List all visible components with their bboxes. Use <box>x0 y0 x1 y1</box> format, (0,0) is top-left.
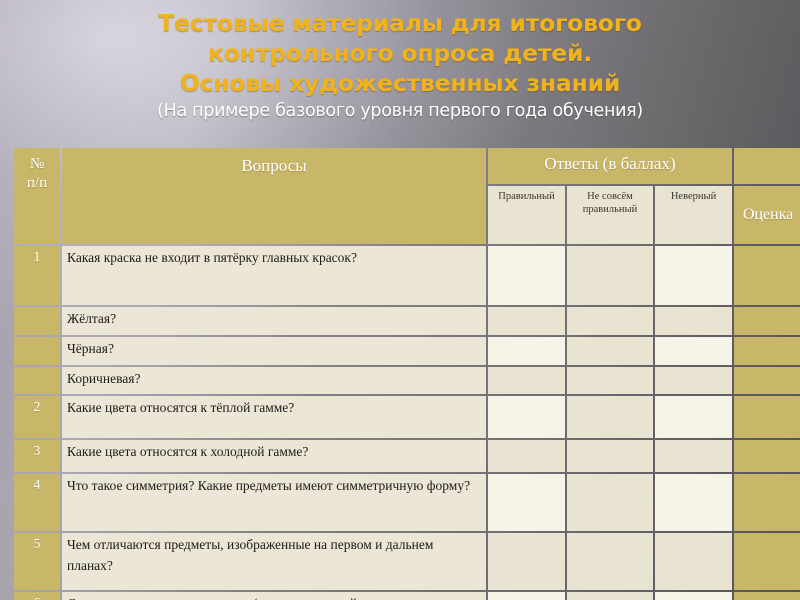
answer-correct-cell[interactable] <box>488 533 565 590</box>
table-row[interactable]: Коричневая? <box>14 367 800 394</box>
answer-incorrect-cell[interactable] <box>655 396 732 438</box>
row-question-cell: Какая краска не входит в пятёрку главных… <box>62 246 486 305</box>
row-number-cell: 4 <box>14 474 60 531</box>
answer-correct-cell[interactable] <box>488 396 565 438</box>
table-row[interactable]: 2Какие цвета относятся к тёплой гамме? <box>14 396 800 438</box>
answer-partly-correct-cell[interactable] <box>567 440 653 472</box>
quiz-table: № п/п Вопросы Ответы (в баллах) Правильн… <box>12 146 800 600</box>
header-subcol-correct: Правильный <box>488 186 565 244</box>
quiz-table-wrapper: № п/п Вопросы Ответы (в баллах) Правильн… <box>12 146 790 600</box>
answer-incorrect-cell[interactable] <box>655 592 732 600</box>
answer-partly-correct-cell[interactable] <box>567 307 653 335</box>
answer-partly-correct-cell[interactable] <box>567 246 653 305</box>
answer-correct-cell[interactable] <box>488 474 565 531</box>
header-questions-col: Вопросы <box>62 148 486 244</box>
answer-partly-correct-cell[interactable] <box>567 533 653 590</box>
row-number-cell: 5 <box>14 533 60 590</box>
row-question-cell: Чёрная? <box>62 337 486 365</box>
header-row-top: № п/п Вопросы Ответы (в баллах) <box>14 148 800 184</box>
score-cell[interactable] <box>734 307 800 335</box>
row-question-cell: Какие цвета относятся к холодной гамме? <box>62 440 486 472</box>
answer-correct-cell[interactable] <box>488 246 565 305</box>
row-number-cell: 3 <box>14 440 60 472</box>
header-number-line2: п/п <box>14 174 60 193</box>
row-question-cell: Чем отличаются предметы, изображенные на… <box>62 533 486 590</box>
answer-correct-cell[interactable] <box>488 367 565 394</box>
title-line-3: Основы художественных знаний <box>0 68 800 98</box>
row-question-cell: Жёлтая? <box>62 307 486 335</box>
header-number-col: № п/п <box>14 148 60 244</box>
answer-incorrect-cell[interactable] <box>655 246 732 305</box>
score-cell[interactable] <box>734 592 800 600</box>
answer-partly-correct-cell[interactable] <box>567 396 653 438</box>
header-subcol-partly-correct: Не совсём правильный <box>567 186 653 244</box>
answer-partly-correct-cell[interactable] <box>567 474 653 531</box>
score-cell[interactable] <box>734 396 800 438</box>
answer-partly-correct-cell[interactable] <box>567 592 653 600</box>
row-question-cell: Что такое симметрия? Какие предметы имею… <box>62 474 486 531</box>
score-cell[interactable] <box>734 474 800 531</box>
table-row[interactable]: 5Чем отличаются предметы, изображенные н… <box>14 533 800 590</box>
table-row[interactable]: 3Какие цвета относятся к холодной гамме? <box>14 440 800 472</box>
table-head: № п/п Вопросы Ответы (в баллах) Правильн… <box>14 148 800 244</box>
header-number-line1: № <box>14 155 60 174</box>
answer-incorrect-cell[interactable] <box>655 337 732 365</box>
answer-incorrect-cell[interactable] <box>655 440 732 472</box>
answer-incorrect-cell[interactable] <box>655 533 732 590</box>
slide-canvas: Тестовые материалы для итогового контрол… <box>0 0 800 600</box>
score-cell[interactable] <box>734 246 800 305</box>
answer-correct-cell[interactable] <box>488 337 565 365</box>
table-row[interactable]: 1Какая краска не входит в пятёрку главны… <box>14 246 800 305</box>
score-cell[interactable] <box>734 367 800 394</box>
row-number-cell: 6 <box>14 592 60 600</box>
row-number-cell <box>14 367 60 394</box>
answer-partly-correct-cell[interactable] <box>567 337 653 365</box>
answer-partly-correct-cell[interactable] <box>567 367 653 394</box>
table-row[interactable]: 4Что такое симметрия? Какие предметы име… <box>14 474 800 531</box>
row-question-cell: Какие цвета относятся к тёплой гамме? <box>62 396 486 438</box>
row-number-cell: 2 <box>14 396 60 438</box>
title-line-2: контрольного опроса детей. <box>0 38 800 68</box>
row-question-cell: Коричневая? <box>62 367 486 394</box>
score-cell[interactable] <box>734 440 800 472</box>
table-row[interactable]: Жёлтая? <box>14 307 800 335</box>
score-cell[interactable] <box>734 337 800 365</box>
answer-correct-cell[interactable] <box>488 592 565 600</box>
header-answers-group: Ответы (в баллах) <box>488 148 732 184</box>
title-block: Тестовые материалы для итогового контрол… <box>0 8 800 124</box>
answer-correct-cell[interactable] <box>488 307 565 335</box>
row-number-cell <box>14 337 60 365</box>
answer-incorrect-cell[interactable] <box>655 307 732 335</box>
header-score-col: Оценка <box>734 186 800 244</box>
row-number-cell <box>14 307 60 335</box>
answer-correct-cell[interactable] <box>488 440 565 472</box>
answer-incorrect-cell[interactable] <box>655 367 732 394</box>
table-body: 1Какая краска не входит в пятёрку главны… <box>14 246 800 600</box>
subtitle-line: (На примере базового уровня первого года… <box>0 98 800 124</box>
title-line-1: Тестовые материалы для итогового <box>0 8 800 38</box>
row-number-cell: 1 <box>14 246 60 305</box>
answer-incorrect-cell[interactable] <box>655 474 732 531</box>
header-subcol-incorrect: Неверный <box>655 186 732 244</box>
row-question-cell: С чего лучше начинать рисунок (с мелких … <box>62 592 486 600</box>
table-row[interactable]: Чёрная? <box>14 337 800 365</box>
score-cell[interactable] <box>734 533 800 590</box>
table-row[interactable]: 6С чего лучше начинать рисунок (с мелких… <box>14 592 800 600</box>
header-score-spacer <box>734 148 800 184</box>
